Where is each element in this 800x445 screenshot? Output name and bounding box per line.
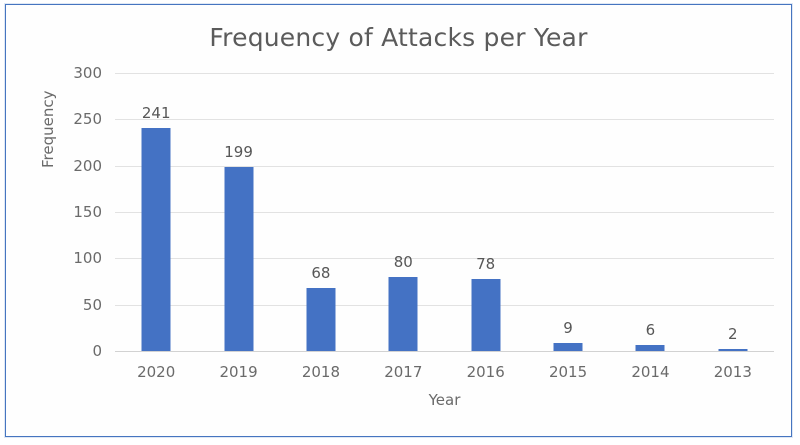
bar-value-label: 9 — [563, 319, 573, 337]
y-axis-tick-label: 0 — [92, 342, 102, 360]
x-axis-tick-label: 2013 — [714, 363, 752, 381]
y-axis-tick-label: 100 — [73, 249, 102, 267]
chart-title: Frequency of Attacks per Year — [6, 23, 791, 52]
bar-group: 22013 — [692, 73, 774, 351]
bar[interactable] — [224, 167, 253, 351]
bar-group: 802017 — [362, 73, 444, 351]
bar[interactable] — [554, 343, 583, 351]
y-axis-tick-label: 300 — [73, 64, 102, 82]
x-axis-tick-label: 2019 — [219, 363, 257, 381]
bar-value-label: 68 — [311, 264, 330, 282]
y-axis-title: Frequency — [39, 148, 57, 168]
bar-value-label: 2 — [728, 325, 738, 343]
bar-value-label: 6 — [646, 321, 656, 339]
y-axis-tick-label: 150 — [73, 203, 102, 221]
y-axis-tick-label: 50 — [83, 296, 102, 314]
bar-group: 682018 — [280, 73, 362, 351]
bar[interactable] — [142, 128, 171, 351]
y-axis-tick-label: 250 — [73, 110, 102, 128]
bar-group: 782016 — [445, 73, 527, 351]
bar-value-label: 80 — [394, 253, 413, 271]
plot-area: 3002502001501005002412020199201968201880… — [115, 73, 774, 351]
chart-frame: Frequency of Attacks per Year Frequency … — [4, 3, 793, 438]
x-axis-tick-label: 2016 — [467, 363, 505, 381]
bar-group: 92015 — [527, 73, 609, 351]
y-axis-tick-label: 200 — [73, 157, 102, 175]
x-axis-tick-label: 2015 — [549, 363, 587, 381]
bar[interactable] — [306, 288, 335, 351]
x-axis-tick-label: 2020 — [137, 363, 175, 381]
gridline-0 — [115, 351, 774, 352]
x-axis-tick-label: 2018 — [302, 363, 340, 381]
bar-value-label: 78 — [476, 255, 495, 273]
bar-value-label: 241 — [142, 104, 171, 122]
bar[interactable] — [389, 277, 418, 351]
bar-value-label: 199 — [224, 143, 253, 161]
bar[interactable] — [636, 345, 665, 351]
x-axis-title: Year — [115, 391, 774, 409]
x-axis-tick-label: 2014 — [631, 363, 669, 381]
bar[interactable] — [718, 349, 747, 351]
bar-group: 1992019 — [197, 73, 279, 351]
bar-group: 62014 — [609, 73, 691, 351]
bar[interactable] — [471, 279, 500, 351]
bar-group: 2412020 — [115, 73, 197, 351]
x-axis-tick-label: 2017 — [384, 363, 422, 381]
